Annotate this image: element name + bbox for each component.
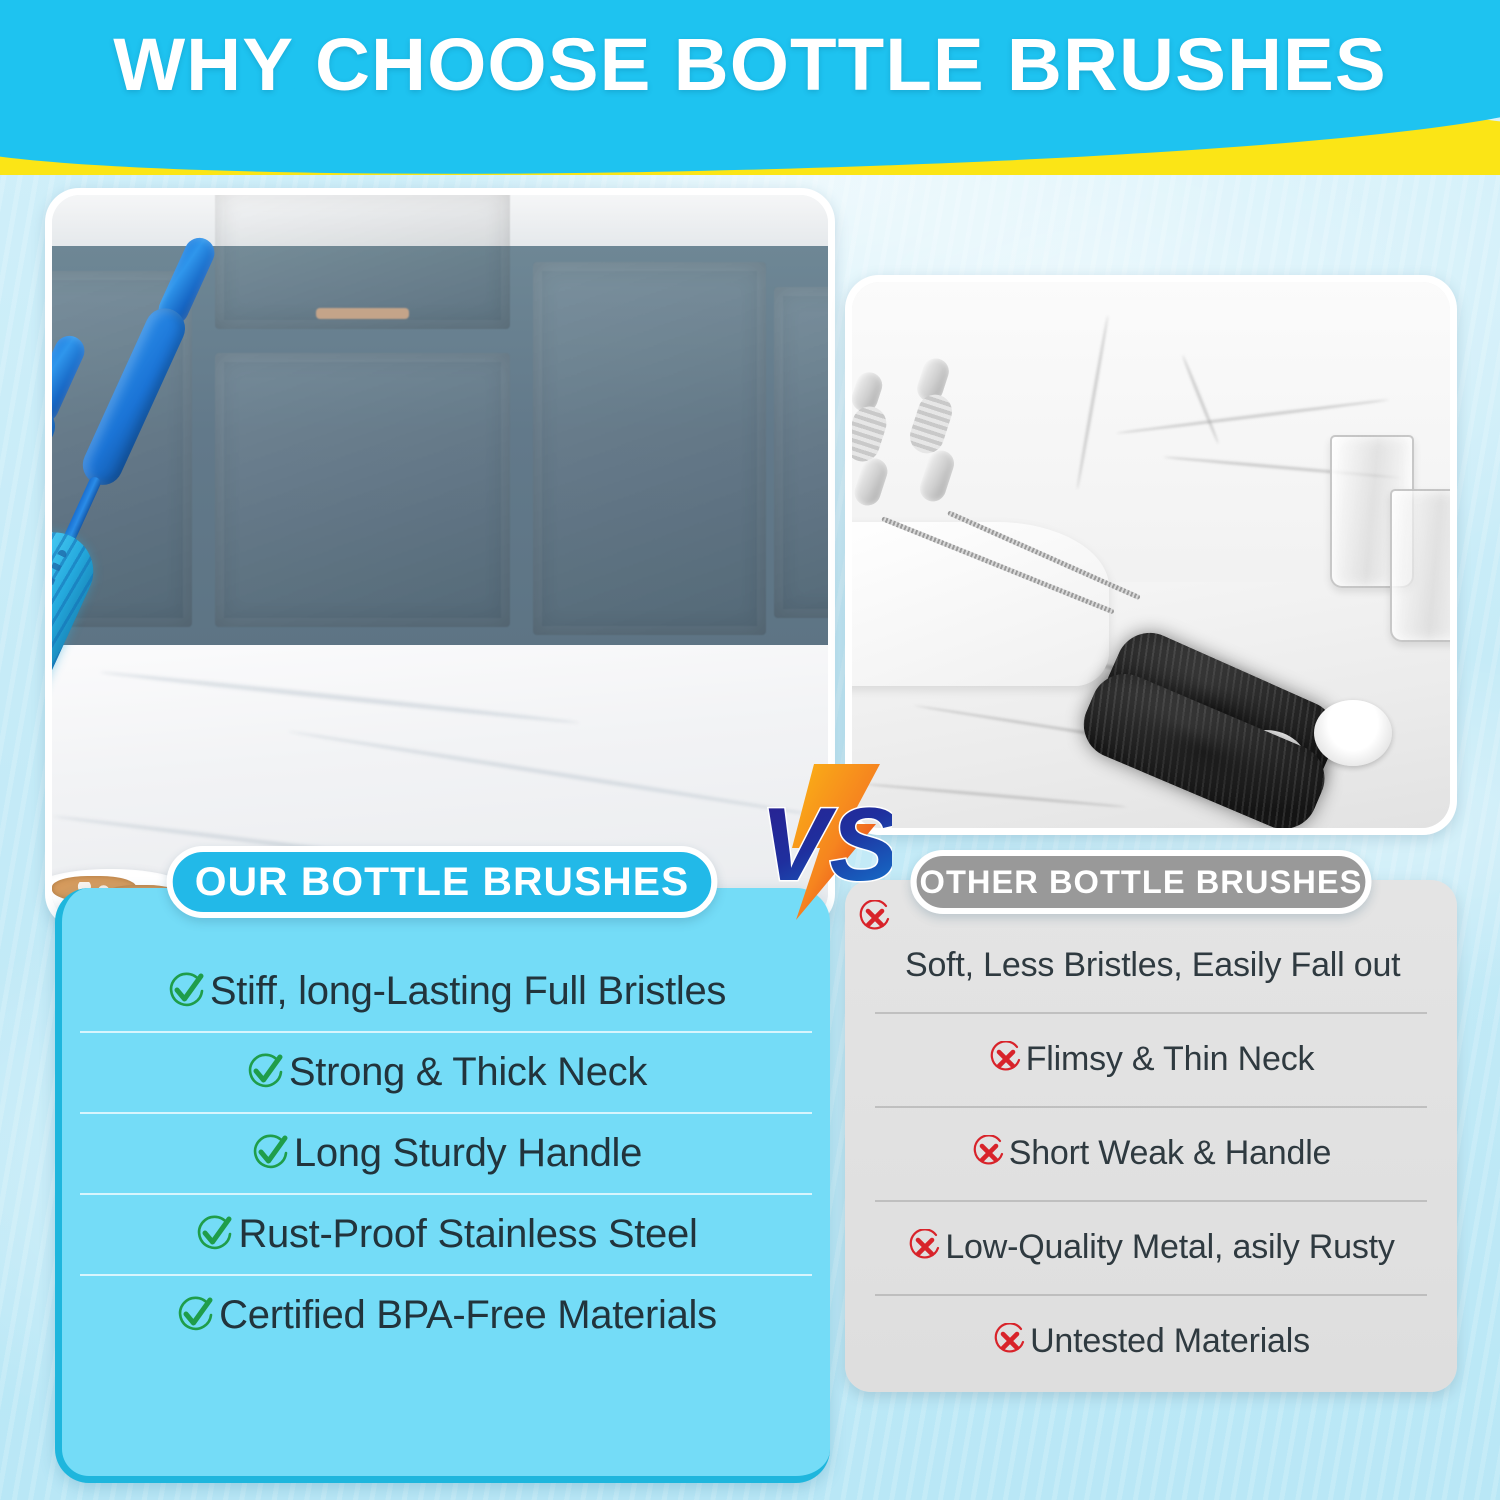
- other-feature-label: Short Weak & Handle: [1009, 1134, 1332, 1172]
- other-feature-label: Flimsy & Thin Neck: [1026, 1040, 1315, 1078]
- other-product-photo: [845, 275, 1457, 835]
- check-circle-icon: [194, 1214, 234, 1254]
- other-feature-label: Soft, Less Bristles, Easily Fall out: [905, 946, 1400, 984]
- x-circle-icon: [907, 1229, 943, 1265]
- other-product-photo-image: [852, 282, 1450, 828]
- other-feature-row: Flimsy & Thin Neck: [845, 1012, 1457, 1106]
- x-circle-icon: [971, 1135, 1007, 1171]
- x-circle-icon: [988, 1041, 1024, 1077]
- our-feature-label: Stiff, long-Lasting Full Bristles: [210, 969, 726, 1013]
- drinking-glass: [1390, 489, 1450, 642]
- our-feature-row: Certified BPA-Free Materials: [62, 1274, 830, 1355]
- vs-label: VS: [760, 787, 892, 903]
- folded-towel: [852, 522, 1109, 686]
- check-circle-icon: [250, 1133, 290, 1173]
- our-feature-label: Rust-Proof Stainless Steel: [238, 1212, 697, 1256]
- our-feature-label: Strong & Thick Neck: [289, 1050, 647, 1094]
- versus-emblem: VS: [752, 762, 892, 922]
- other-feature-row: Soft, Less Bristles, Easily Fall out: [845, 918, 1457, 1012]
- check-circle-icon: [175, 1295, 215, 1335]
- check-circle-icon: [245, 1052, 285, 1092]
- page-title: WHY CHOOSE BOTTLE BRUSHES: [0, 22, 1500, 108]
- cabinet-panel: [215, 353, 510, 626]
- other-features-list: Soft, Less Bristles, Easily Fall outFlim…: [845, 918, 1457, 1388]
- check-circle-icon: [250, 1133, 290, 1173]
- marble-vein: [1076, 315, 1110, 490]
- cabinet-panel: [774, 287, 828, 618]
- our-features-list: Stiff, long-Lasting Full BristlesStrong …: [62, 950, 830, 1355]
- marble-vein: [288, 730, 825, 819]
- our-feature-row: Strong & Thick Neck: [62, 1031, 830, 1112]
- other-feature-row: Untested Materials: [845, 1294, 1457, 1388]
- other-features-card: Soft, Less Bristles, Easily Fall outFlim…: [845, 880, 1457, 1392]
- check-circle-icon: [175, 1295, 215, 1335]
- check-circle-icon: [245, 1052, 285, 1092]
- check-circle-icon: [166, 971, 206, 1011]
- our-feature-row: Rust-Proof Stainless Steel: [62, 1193, 830, 1274]
- our-feature-row: Long Sturdy Handle: [62, 1112, 830, 1193]
- our-product-photo: [45, 188, 835, 928]
- marble-vein: [864, 782, 1126, 808]
- our-brushes-badge: OUR BOTTLE BRUSHES: [167, 846, 718, 918]
- our-product-photo-image: [52, 195, 828, 921]
- marble-vein: [1116, 398, 1389, 435]
- other-feature-row: Low-Quality Metal, asily Rusty: [845, 1200, 1457, 1294]
- cabinet-panel: [533, 262, 766, 634]
- our-feature-label: Certified BPA-Free Materials: [219, 1293, 717, 1337]
- our-feature-row: Stiff, long-Lasting Full Bristles: [62, 950, 830, 1031]
- our-features-card: Stiff, long-Lasting Full BristlesStrong …: [55, 888, 830, 1483]
- other-feature-label: Untested Materials: [1030, 1322, 1310, 1360]
- x-circle-icon: [988, 1041, 1024, 1077]
- check-circle-icon: [194, 1214, 234, 1254]
- x-circle-icon: [992, 1323, 1028, 1359]
- x-circle-icon: [992, 1323, 1028, 1359]
- other-feature-label: Low-Quality Metal, asily Rusty: [945, 1228, 1394, 1266]
- marble-vein: [1181, 355, 1219, 444]
- x-circle-icon: [907, 1229, 943, 1265]
- other-feature-row: Short Weak & Handle: [845, 1106, 1457, 1200]
- our-feature-label: Long Sturdy Handle: [294, 1131, 642, 1175]
- marble-vein: [100, 670, 579, 725]
- x-circle-icon: [971, 1135, 1007, 1171]
- check-circle-icon: [166, 971, 206, 1011]
- cabinet-handle: [316, 308, 409, 319]
- other-brushes-badge: OTHER BOTTLE BRUSHES: [910, 850, 1371, 914]
